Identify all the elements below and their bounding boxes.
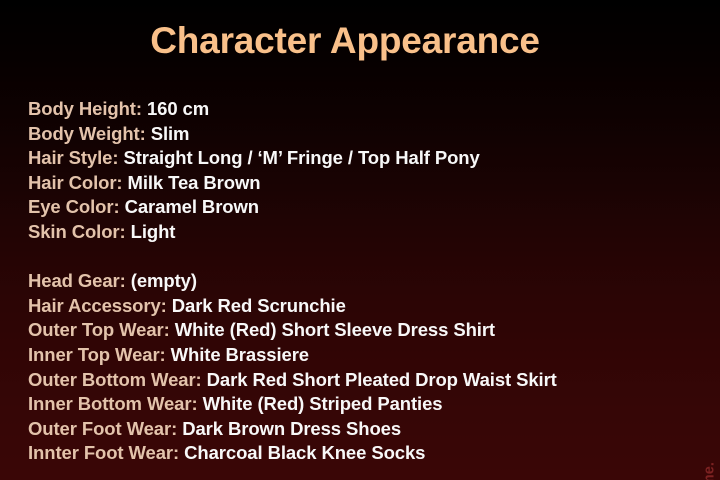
spec-value: Slim	[151, 123, 190, 144]
section-spacer	[28, 245, 668, 270]
spec-section-clothing-attributes: Head Gear: (empty) Hair Accessory: Dark …	[28, 269, 668, 466]
spec-label: Body Weight:	[28, 123, 146, 144]
page-title: Character Appearance	[0, 20, 690, 62]
spec-line: Inner Bottom Wear: White (Red) Striped P…	[28, 392, 668, 417]
spec-line: Outer Bottom Wear: Dark Red Short Pleate…	[28, 368, 668, 393]
spec-label: Inner Bottom Wear:	[28, 393, 198, 414]
spec-line: Outer Top Wear: White (Red) Short Sleeve…	[28, 318, 668, 343]
spec-label: Inner Top Wear:	[28, 344, 166, 365]
spec-line: Hair Accessory: Dark Red Scrunchie	[28, 294, 668, 319]
spec-line: Head Gear: (empty)	[28, 269, 668, 294]
spec-label: Body Height:	[28, 98, 142, 119]
spec-label: Skin Color:	[28, 221, 126, 242]
spec-value: Straight Long / ‘M’ Fringe / Top Half Po…	[123, 147, 479, 168]
spec-value: 160 cm	[147, 98, 209, 119]
spec-label: Hair Accessory:	[28, 295, 167, 316]
spec-label: Eye Color:	[28, 196, 120, 217]
spec-line: Hair Color: Milk Tea Brown	[28, 171, 668, 196]
spec-label: Innter Foot Wear:	[28, 442, 179, 463]
spec-value: White (Red) Striped Panties	[203, 393, 443, 414]
spec-line: Hair Style: Straight Long / ‘M’ Fringe /…	[28, 146, 668, 171]
spec-line: Innter Foot Wear: Charcoal Black Knee So…	[28, 441, 668, 466]
spec-line: Eye Color: Caramel Brown	[28, 195, 668, 220]
spec-value: White Brassiere	[171, 344, 309, 365]
spec-section-physical-attributes: Body Height: 160 cm Body Weight: Slim Ha…	[28, 97, 668, 245]
spec-line: Inner Top Wear: White Brassiere	[28, 343, 668, 368]
spec-label: Outer Bottom Wear:	[28, 369, 202, 390]
spec-value: White (Red) Short Sleeve Dress Shirt	[175, 319, 495, 340]
spec-value: Light	[131, 221, 176, 242]
spec-line: Body Weight: Slim	[28, 122, 668, 147]
spec-value: Caramel Brown	[125, 196, 259, 217]
spec-value: (empty)	[131, 270, 197, 291]
spec-value: Dark Brown Dress Shoes	[182, 418, 401, 439]
spec-label: Outer Foot Wear:	[28, 418, 177, 439]
spec-label: Outer Top Wear:	[28, 319, 170, 340]
spec-value: Charcoal Black Knee Socks	[184, 442, 425, 463]
spec-label: Hair Color:	[28, 172, 123, 193]
spec-label: Hair Style:	[28, 147, 118, 168]
spec-line: Skin Color: Light	[28, 220, 668, 245]
spec-line: Outer Foot Wear: Dark Brown Dress Shoes	[28, 417, 668, 442]
character-spec-list: Body Height: 160 cm Body Weight: Slim Ha…	[28, 97, 668, 466]
spec-label: Head Gear:	[28, 270, 126, 291]
spec-value: Dark Red Short Pleated Drop Waist Skirt	[207, 369, 557, 390]
slide-canvas: Character Appearance Body Height: 160 cm…	[0, 0, 720, 480]
spec-value: Dark Red Scrunchie	[172, 295, 346, 316]
spec-value: Milk Tea Brown	[128, 172, 261, 193]
spec-line: Body Height: 160 cm	[28, 97, 668, 122]
disclaimer-note: Note: Subjected to changes at any point …	[702, 462, 718, 480]
